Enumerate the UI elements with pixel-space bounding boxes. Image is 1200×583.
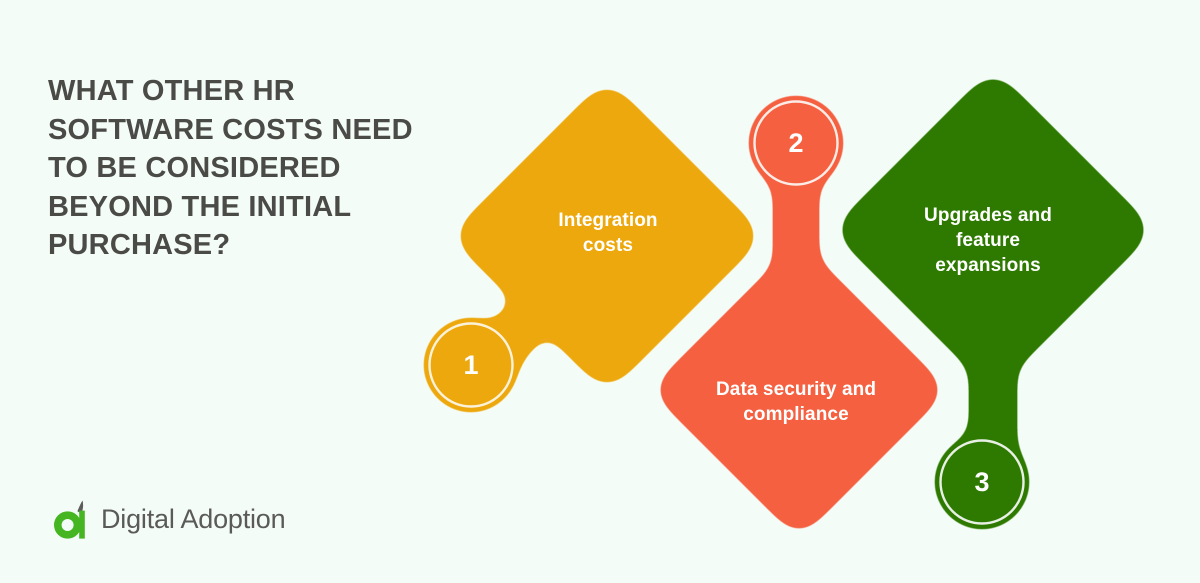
brand-logo[interactable]: Digital Adoption [52,498,285,540]
diagram-svg [0,0,1200,583]
step-red-badge-circle [747,94,845,192]
brand-logo-text: Digital Adoption [101,506,285,533]
diagram-stage [0,0,1200,583]
step-orange-badge-circle [422,316,520,414]
infographic-canvas: What other HR software costs need to be … [0,0,1200,583]
step-green-badge-circle [933,433,1031,531]
digital-adoption-a-mark-icon [52,498,92,540]
